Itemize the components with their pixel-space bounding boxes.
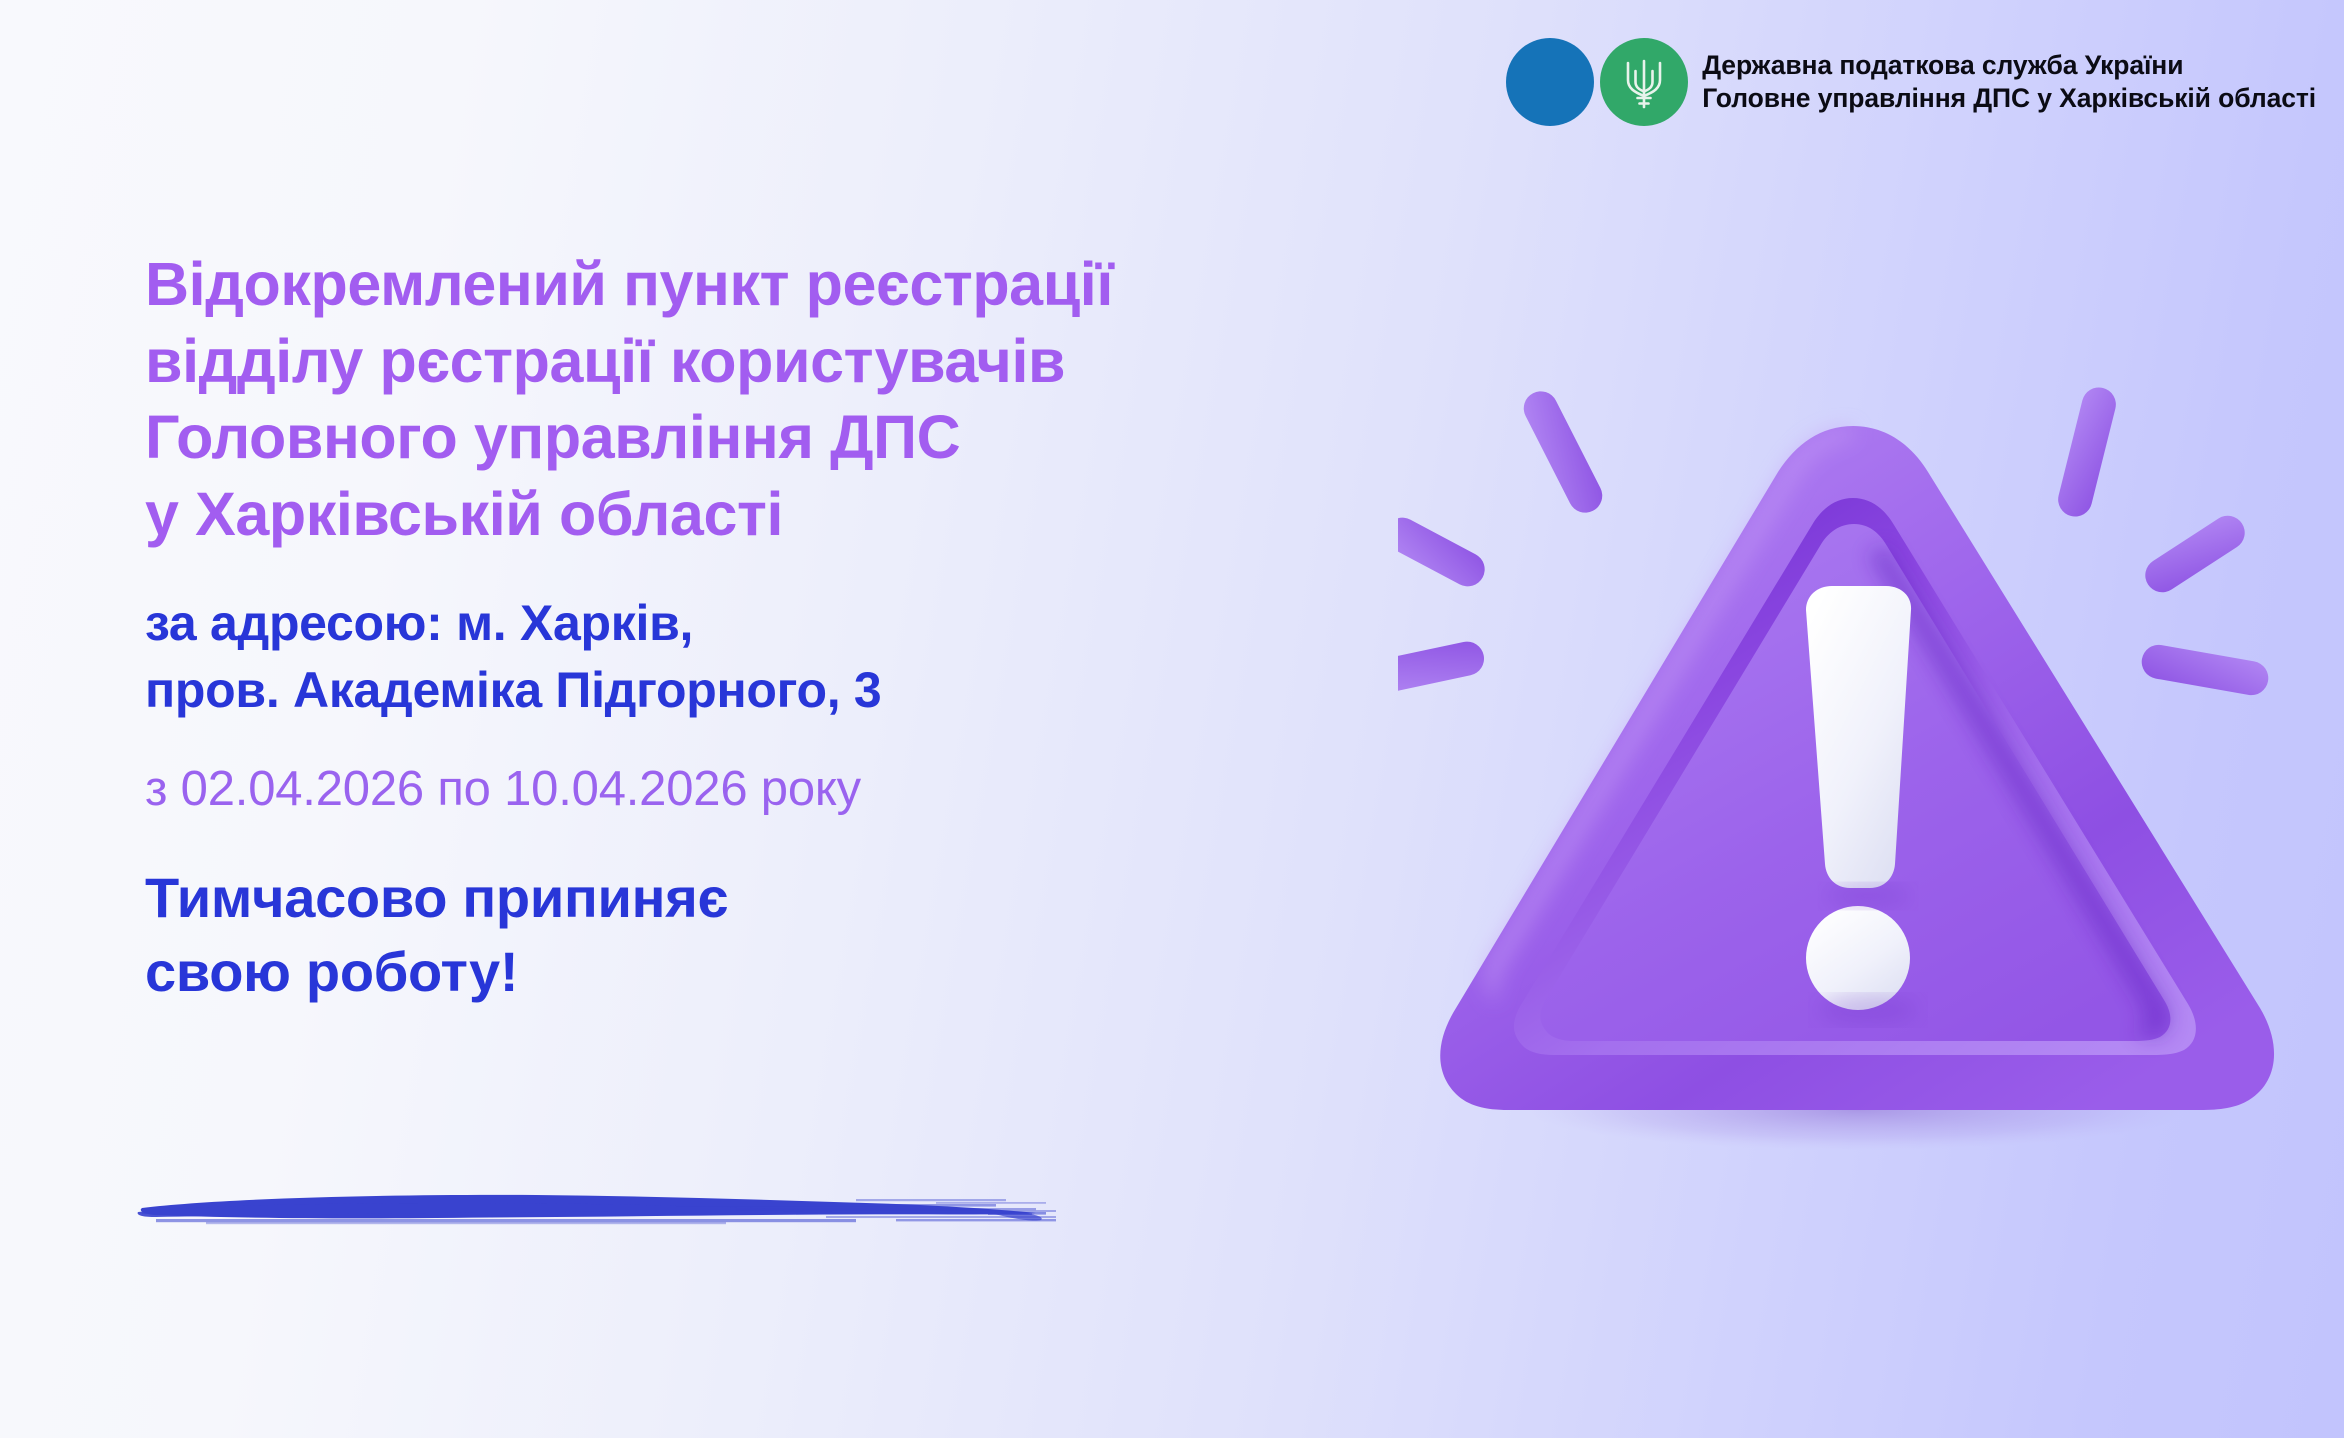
closing-statement: Тимчасово припиняє свою роботу! <box>145 861 1445 1010</box>
headline: Відокремлений пункт реєстрації відділу р… <box>145 246 1445 552</box>
warning-triangle-3d-icon <box>1398 348 2304 1154</box>
ray-group-left <box>1398 385 1608 697</box>
announcement-content: Відокремлений пункт реєстрації відділу р… <box>145 246 1445 1010</box>
date-range: з 02.04.2026 по 10.04.2026 року <box>145 760 1445 819</box>
org-line-1: Державна податкова служба України <box>1702 49 2316 82</box>
emblem-group <box>1506 38 1688 126</box>
address-line-2: пров. Академіка Підгорного, 3 <box>145 657 1445 724</box>
headline-line-4: у Харківській області <box>145 476 1445 553</box>
organization-name: Державна податкова служба України Головн… <box>1702 49 2316 116</box>
address-block: за адресою: м. Харків, пров. Академіка П… <box>145 590 1445 724</box>
headline-line-2: відділу рєстрації користувачів <box>145 323 1445 400</box>
closing-line-2: свою роботу! <box>145 935 1445 1009</box>
headline-line-1: Відокремлений пункт реєстрації <box>145 246 1445 323</box>
address-line-1: за адресою: м. Харків, <box>145 590 1445 657</box>
exclamation-dot <box>1806 906 1910 1010</box>
ray-group-right <box>2055 384 2271 698</box>
blue-circle-emblem <box>1506 38 1594 126</box>
trident-emblem <box>1600 38 1688 126</box>
organization-logo-block: Державна податкова служба України Головн… <box>1506 38 2316 126</box>
headline-line-3: Головного управління ДПС <box>145 399 1445 476</box>
closing-line-1: Тимчасово припиняє <box>145 861 1445 935</box>
org-line-2: Головне управління ДПС у Харківській обл… <box>1702 82 2316 115</box>
brush-stroke-underline <box>136 1182 1096 1242</box>
